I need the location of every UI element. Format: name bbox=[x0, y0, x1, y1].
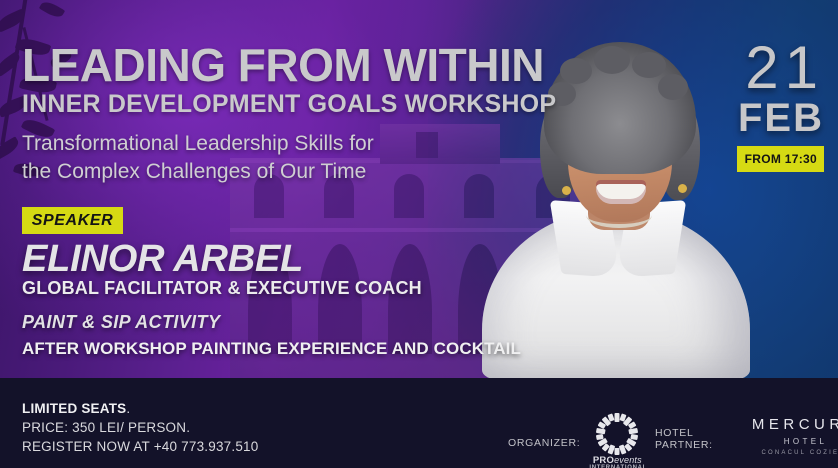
mercure-brand: MERCURE bbox=[746, 416, 838, 433]
limited-seats-period: . bbox=[126, 401, 130, 416]
limited-seats-label: LIMITED SEATS bbox=[22, 401, 126, 416]
sunburst-icon bbox=[595, 412, 639, 456]
event-day: 21 bbox=[745, 38, 824, 98]
activity-title: PAINT & SIP ACTIVITY bbox=[22, 313, 220, 331]
price-line: PRICE: 350 LEI/ PERSON. bbox=[22, 418, 258, 437]
register-line: REGISTER NOW AT +40 773.937.510 bbox=[22, 437, 258, 456]
organizer-section: ORGANIZER: bbox=[508, 412, 645, 468]
organizer-label: ORGANIZER: bbox=[508, 437, 580, 449]
hotel-partner-label: HOTEL PARTNER: bbox=[655, 427, 736, 451]
tagline-line-2: the Complex Challenges of Our Time bbox=[22, 158, 374, 186]
mercure-property: CONACUL COZIENI bbox=[746, 450, 838, 456]
speaker-role: GLOBAL FACILITATOR & EXECUTIVE COACH bbox=[22, 279, 422, 297]
event-month: FEB bbox=[738, 98, 824, 138]
hotel-partner-section: HOTEL PARTNER: MERCURE HOTEL CONACUL COZ… bbox=[655, 416, 838, 462]
speaker-badge-label: SPEAKER bbox=[32, 212, 114, 230]
pro-events-italic: events bbox=[614, 455, 642, 465]
poster-headline: LEADING FROM WITHIN bbox=[22, 42, 544, 88]
limited-seats-line: LIMITED SEATS. bbox=[22, 399, 258, 418]
footer-info-text: LIMITED SEATS. PRICE: 350 LEI/ PERSON. R… bbox=[22, 399, 258, 456]
event-poster: LEADING FROM WITHIN INNER DEVELOPMENT GO… bbox=[0, 0, 838, 468]
tagline-line-1: Transformational Leadership Skills for bbox=[22, 130, 374, 158]
footer-bar: LIMITED SEATS. PRICE: 350 LEI/ PERSON. R… bbox=[0, 378, 838, 468]
mercure-type: HOTEL bbox=[746, 437, 838, 446]
poster-tagline: Transformational Leadership Skills for t… bbox=[22, 130, 374, 185]
event-time-badge: FROM 17:30 bbox=[737, 146, 824, 172]
pro-events-logo: PROevents INTERNATIONAL bbox=[589, 412, 645, 468]
event-time-label: FROM 17:30 bbox=[745, 152, 817, 166]
activity-description: AFTER WORKSHOP PAINTING EXPERIENCE AND C… bbox=[22, 340, 521, 357]
speaker-badge: SPEAKER bbox=[22, 207, 123, 234]
poster-subheadline: INNER DEVELOPMENT GOALS WORKSHOP bbox=[22, 92, 556, 117]
speaker-name: ELINOR ARBEL bbox=[22, 240, 303, 278]
mercure-logo: MERCURE HOTEL CONACUL COZIENI bbox=[746, 416, 838, 462]
